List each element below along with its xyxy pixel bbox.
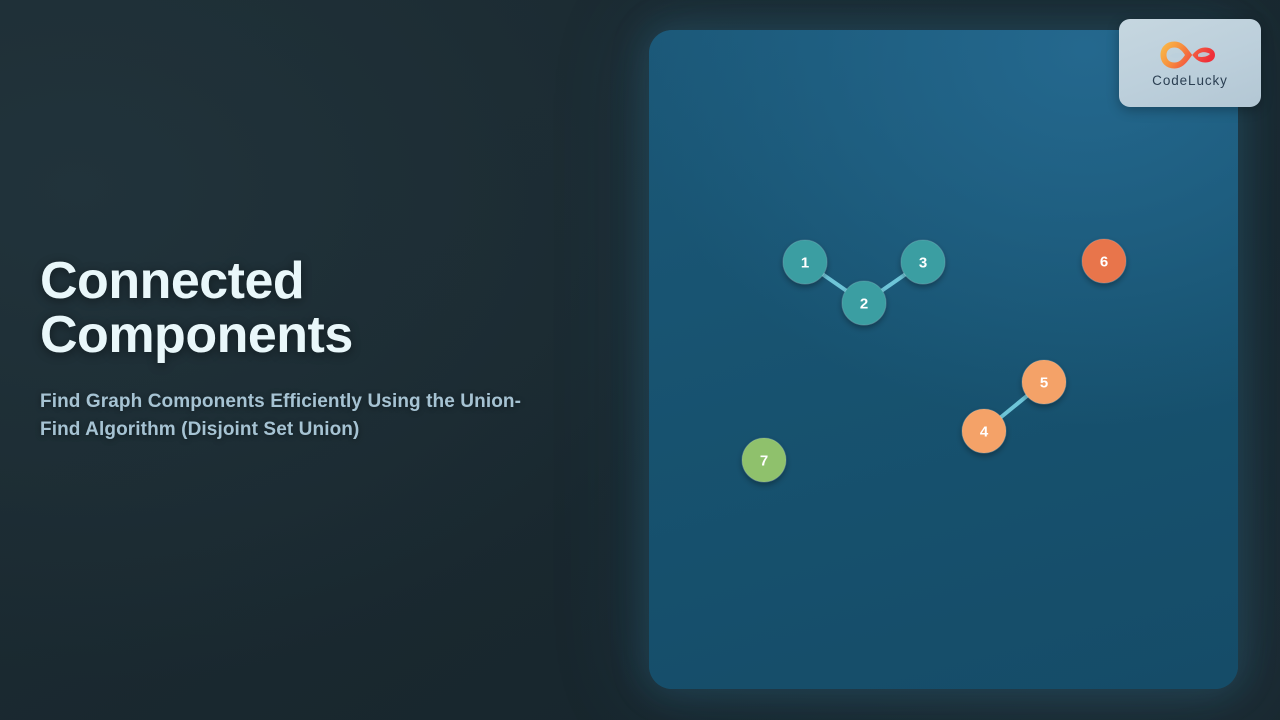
node-label: 4: [980, 424, 989, 441]
node-label: 6: [1100, 254, 1108, 271]
graph-nodes: 1234567: [742, 239, 1126, 482]
node-label: 3: [919, 255, 927, 272]
graph-node[interactable]: 2: [842, 281, 886, 325]
page-subtitle: Find Graph Components Efficiently Using …: [40, 388, 555, 444]
graph-edges: [805, 262, 1044, 431]
graph-visualization: 1234567: [649, 30, 1238, 689]
graph-panel: 1234567: [649, 30, 1238, 689]
graph-node[interactable]: 5: [1022, 360, 1066, 404]
graph-node[interactable]: 7: [742, 438, 786, 482]
node-label: 7: [760, 453, 768, 470]
brand-logo-card[interactable]: CodeLucky: [1119, 19, 1261, 107]
graph-node[interactable]: 6: [1082, 239, 1126, 283]
node-label: 1: [801, 255, 809, 272]
infinity-leaf-icon: [1159, 38, 1221, 72]
slide-canvas: Connected Components Find Graph Componen…: [0, 0, 1280, 720]
graph-node[interactable]: 1: [783, 240, 827, 284]
node-label: 2: [860, 296, 868, 313]
graph-node[interactable]: 4: [962, 409, 1006, 453]
node-label: 5: [1040, 375, 1048, 392]
title-block: Connected Components Find Graph Componen…: [40, 255, 600, 444]
page-title: Connected Components: [40, 255, 370, 362]
brand-name: CodeLucky: [1152, 73, 1228, 88]
graph-node[interactable]: 3: [901, 240, 945, 284]
